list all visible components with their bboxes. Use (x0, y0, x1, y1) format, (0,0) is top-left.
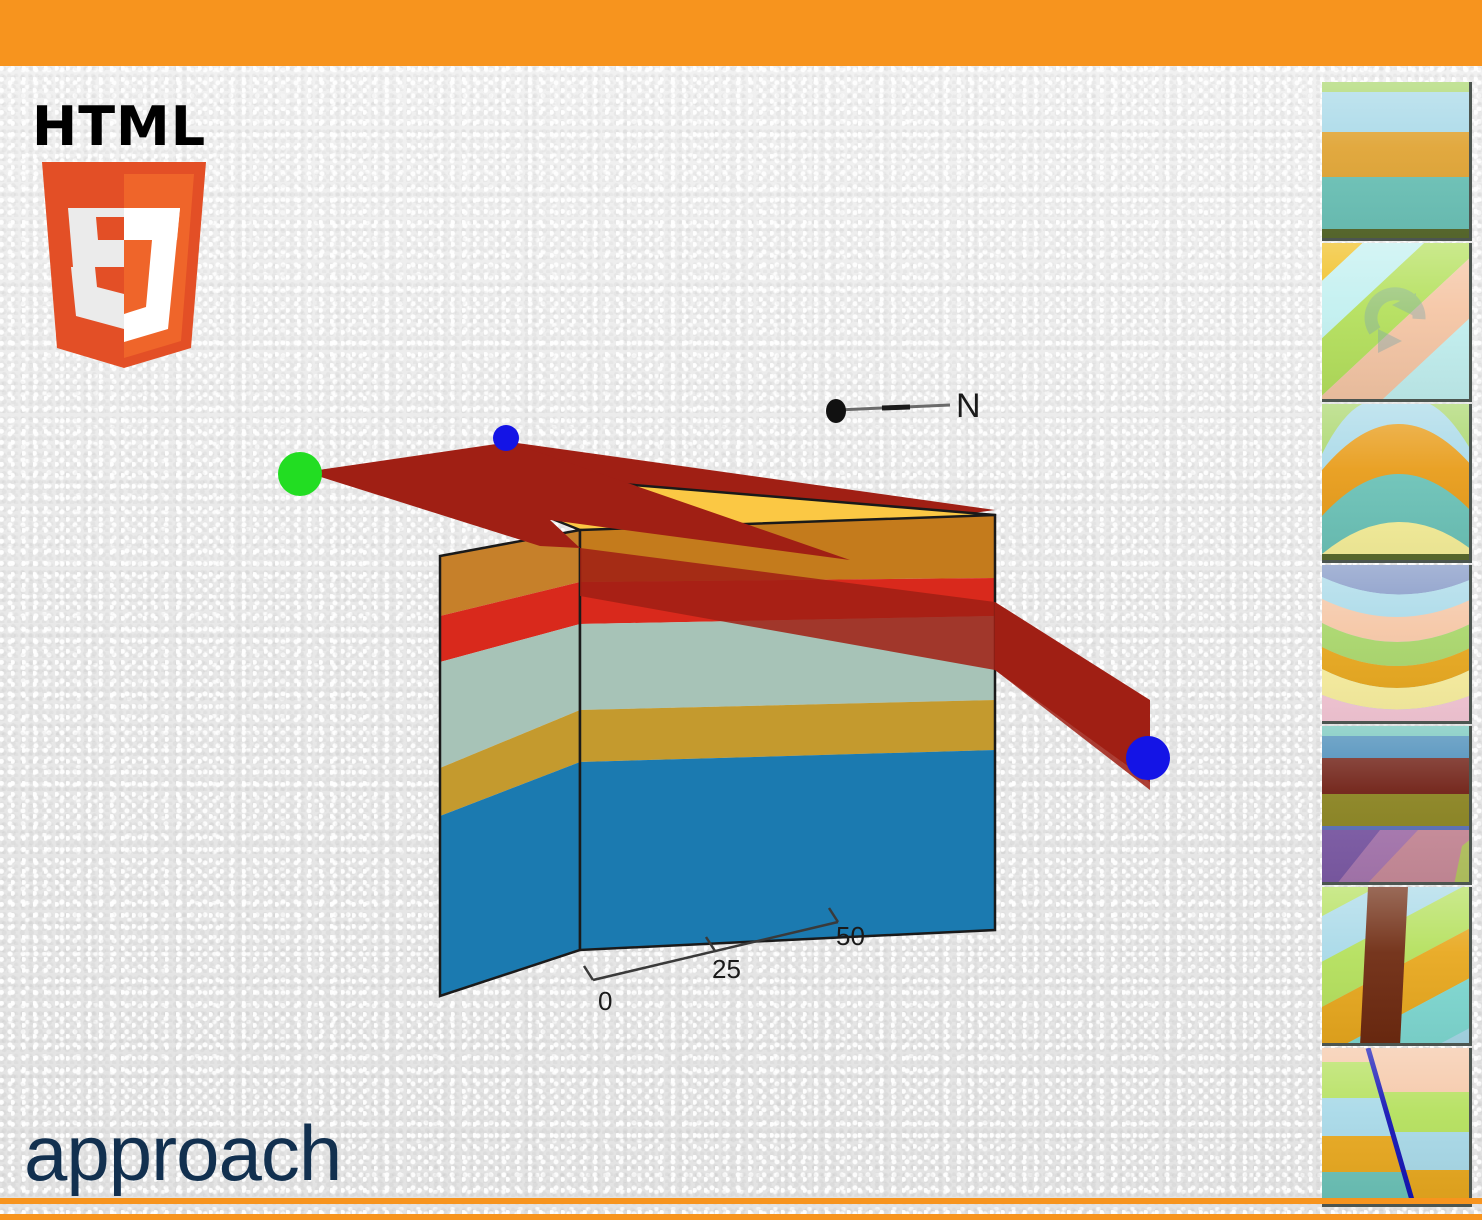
bottom-accent-line (0, 1198, 1482, 1204)
slide-canvas: HTML N (0, 0, 1482, 1220)
html5-shield-icon (26, 162, 222, 384)
page-title: approach (24, 1114, 341, 1192)
model-thumbnail-rail[interactable] (1322, 82, 1474, 1210)
scale-tick-0: 0 (598, 986, 612, 1016)
geological-block-model[interactable]: N (250, 370, 1250, 1050)
thumb-intrusion-sill[interactable] (1322, 726, 1472, 885)
north-label: N (956, 387, 981, 425)
fault-handle-blue-top[interactable] (493, 425, 519, 451)
html5-wordmark: HTML (32, 100, 226, 154)
fault-handle-green[interactable] (278, 452, 322, 496)
top-accent-bar (0, 0, 1482, 66)
scale-tick-25: 25 (712, 954, 741, 984)
bottom-accent-bar (0, 1214, 1482, 1220)
thumb-anticline-fold[interactable] (1322, 404, 1472, 563)
block-model-svg[interactable]: N (250, 370, 1250, 1050)
block-left-face (440, 530, 580, 996)
dyke-body (1360, 887, 1408, 1046)
thumb-dyke[interactable] (1322, 887, 1472, 1046)
html5-logo: HTML (26, 100, 226, 390)
thumb-normal-fault[interactable] (1322, 1048, 1472, 1207)
thumb-tilted-layers[interactable] (1322, 243, 1472, 402)
fault-handle-blue-right[interactable] (1126, 736, 1170, 780)
thumb-syncline-fold[interactable] (1322, 565, 1472, 724)
scale-tick-50: 50 (836, 921, 865, 951)
thumb-flat-layers[interactable] (1322, 82, 1472, 241)
north-indicator (826, 399, 950, 423)
fault-plane-right-wing[interactable] (995, 540, 1150, 782)
